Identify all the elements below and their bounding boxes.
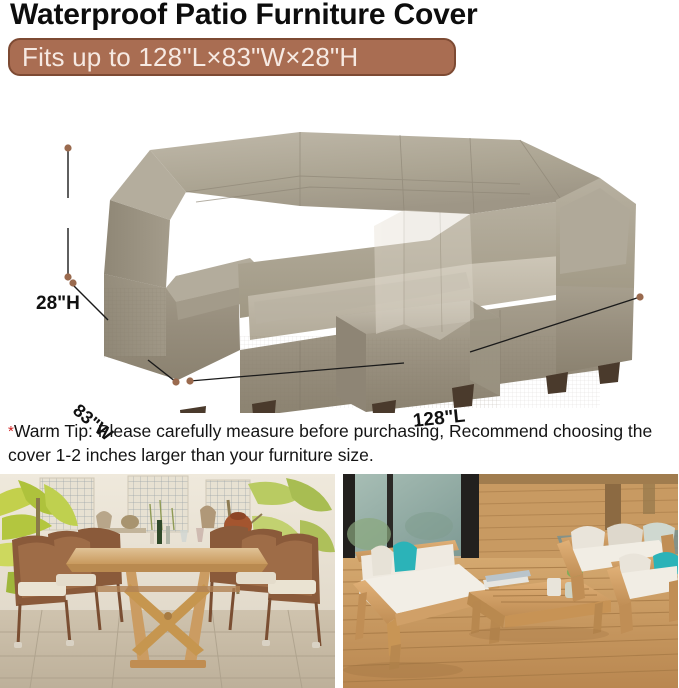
lifestyle-photo-strip [0,474,679,688]
cover-right-arm [556,178,636,374]
status-badge: Fits up to 128"L×83"W×28"H [8,38,456,76]
photo-deck-sofa-set [343,474,678,688]
dim-marker-top [64,144,71,151]
warm-tip: *Warm Tip: Please carefully measure befo… [8,420,676,468]
product-diagram: 28"H 83"W 128"L [0,88,679,413]
furniture-cover-illustration [0,88,679,413]
page-title: Waterproof Patio Furniture Cover [10,0,478,32]
header: Waterproof Patio Furniture Cover Fits up… [0,0,679,88]
dimension-label-height: 28"H [36,293,80,315]
dim-marker-corner-c [172,378,179,385]
dim-marker-right [636,293,643,300]
dim-marker-corner-b [69,279,76,286]
size-badge-label: Fits up to 128"L×83"W×28"H [10,42,358,73]
warm-tip-text: Warm Tip: Please carefully measure befor… [8,421,652,465]
photo-patio-dining-set [0,474,335,688]
cover-translucent-drape [374,210,474,340]
dim-marker-corner-a [64,273,71,280]
dim-marker-corner-d [186,377,193,384]
